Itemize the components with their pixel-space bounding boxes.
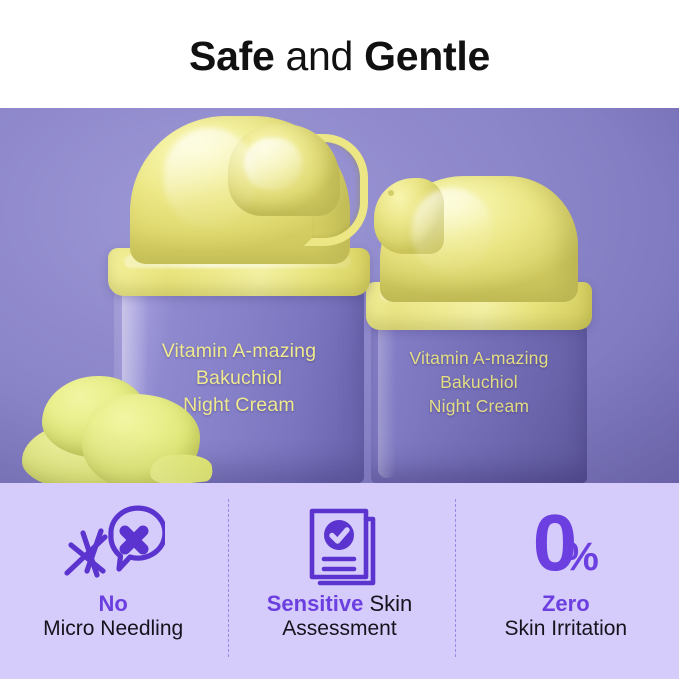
bottle-label-line-1: Vitamin A-mazing <box>114 338 364 365</box>
feature-labels: Zero Skin Irritation <box>505 591 628 641</box>
cream-swatch <box>22 376 200 483</box>
zero-percent-glyphs: 0 % <box>533 503 599 583</box>
bottle-label-line-1: Vitamin A-mazing <box>371 346 587 370</box>
feature-line-1: Sensitive Skin <box>267 591 413 616</box>
feature-accent-text: Sensitive <box>267 591 364 616</box>
cap-gloss-primary <box>164 128 256 228</box>
no-needle-icon <box>61 497 165 589</box>
title-bold-first: Safe <box>189 33 274 79</box>
product-infographic: Safe and Gentle Vitamin A-mazing Bakuchi… <box>0 0 679 679</box>
product-bottle-secondary: Vitamin A-mazing Bakuchiol Night Cream <box>366 170 592 483</box>
bottle-label-line-2: Bakuchiol <box>371 370 587 394</box>
title-bold-second: Gentle <box>364 33 490 79</box>
feature-sensitive-skin-assessment: Sensitive Skin Assessment <box>226 483 452 679</box>
feature-line-2: Micro Needling <box>43 616 183 641</box>
nozzle-dot-secondary <box>388 190 394 196</box>
feature-labels: Sensitive Skin Assessment <box>267 591 413 641</box>
feature-rest-text: Skin <box>363 591 412 616</box>
page-title: Safe and Gentle <box>189 36 490 77</box>
title-regular: and <box>274 33 364 79</box>
document-check-icon <box>296 497 382 589</box>
feature-line-2: Skin Irritation <box>505 616 628 641</box>
feature-labels: No Micro Needling <box>43 591 183 641</box>
feature-line-1: Zero <box>505 591 628 616</box>
header: Safe and Gentle <box>0 0 679 108</box>
feature-line-2: Assessment <box>267 616 413 641</box>
feature-accent-text: Zero <box>542 591 590 616</box>
feature-line-1: No <box>43 591 183 616</box>
bottle-label-line-3: Night Cream <box>371 394 587 418</box>
zero-percent-icon: 0 % <box>533 497 599 589</box>
bottle-label-secondary: Vitamin A-mazing Bakuchiol Night Cream <box>371 346 587 418</box>
feature-zero-skin-irritation: 0 % Zero Skin Irritation <box>453 483 679 679</box>
feature-no-micro-needling: No Micro Needling <box>0 483 226 679</box>
feature-band: No Micro Needling Sensitive Skin <box>0 483 679 679</box>
nozzle-gloss-primary <box>244 138 302 190</box>
feature-accent-text: No <box>98 591 127 616</box>
cap-gloss-secondary <box>412 188 492 274</box>
percent-sign: % <box>563 537 599 577</box>
product-photo: Vitamin A-mazing Bakuchiol Night Cream V… <box>0 108 679 483</box>
